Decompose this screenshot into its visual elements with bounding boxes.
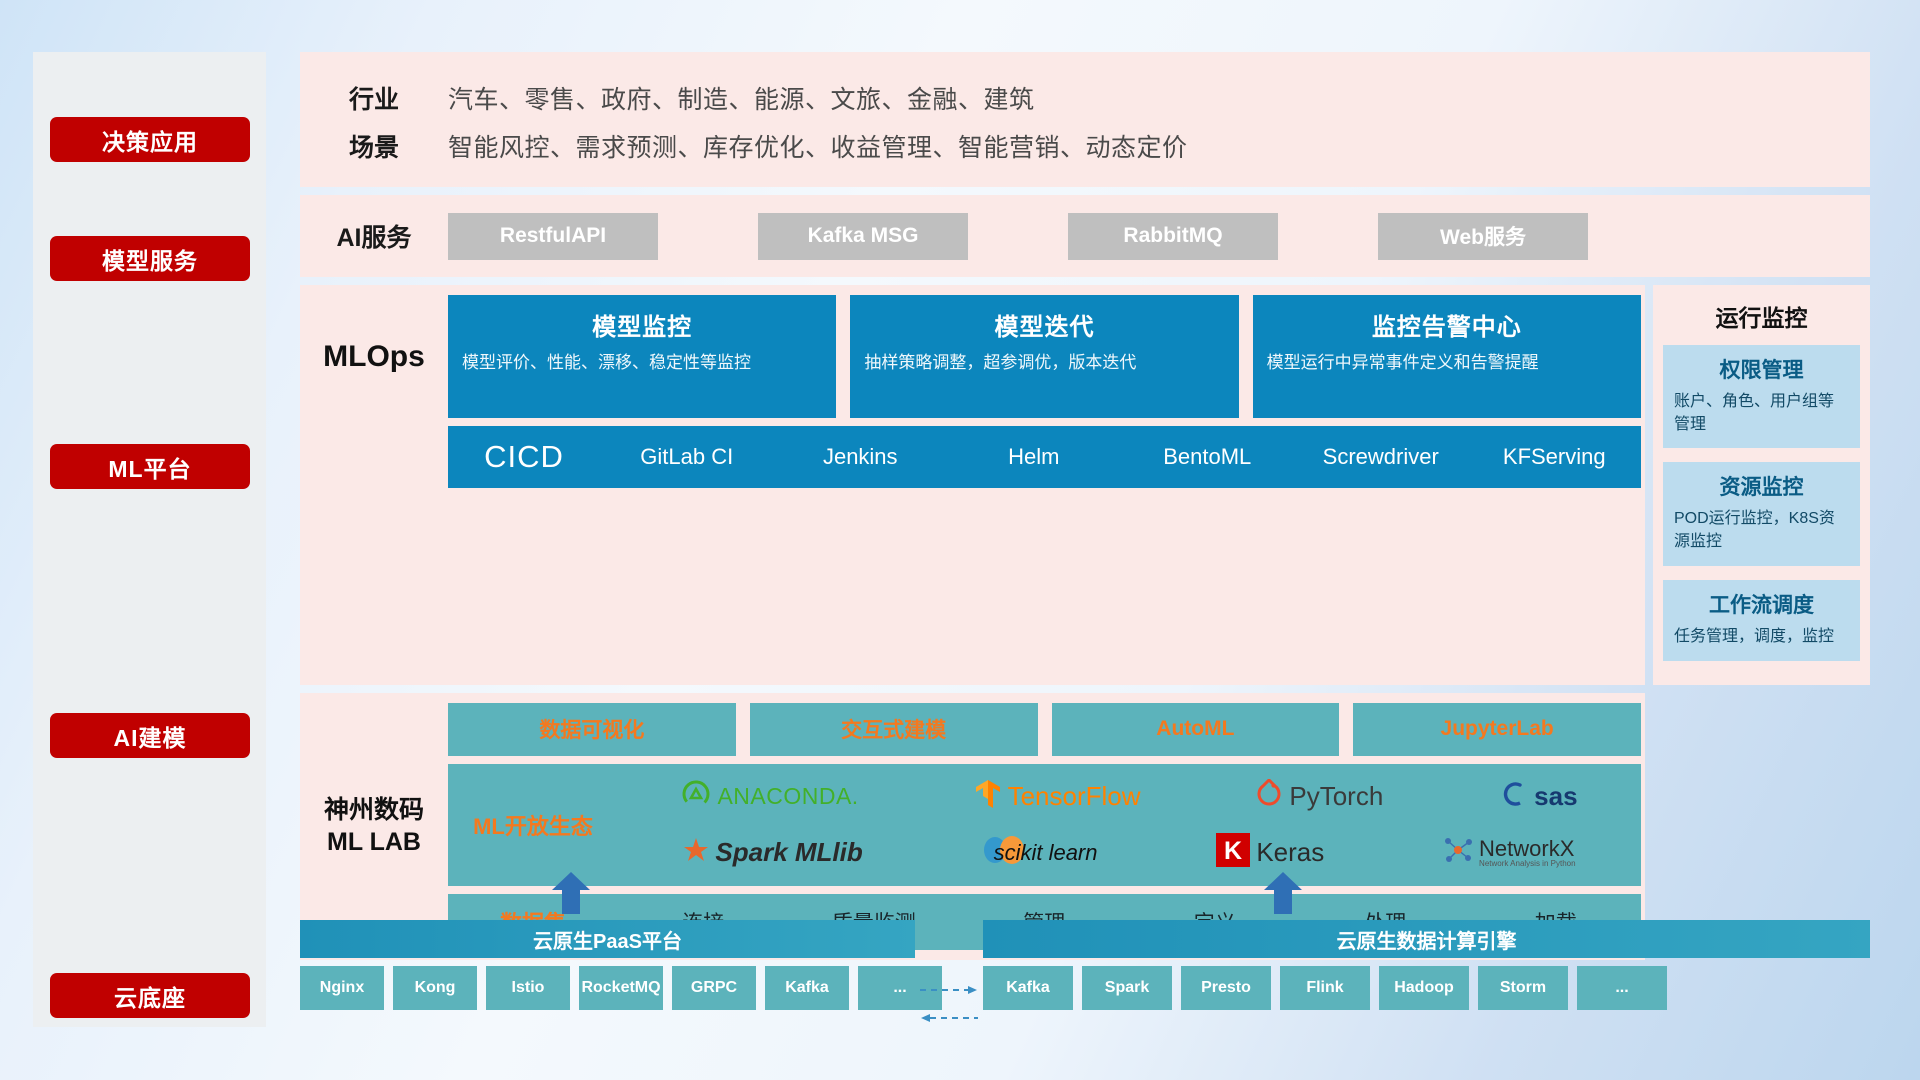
networkx-icon — [1443, 835, 1473, 870]
compute-engine-bar[interactable]: 云原生数据计算引擎 — [983, 920, 1870, 958]
monitor-card-desc: 账户、角色、用户组等管理 — [1674, 391, 1849, 436]
tab-data-visualization[interactable]: 数据可视化 — [448, 703, 736, 756]
dashed-arrow-left-icon — [920, 1012, 978, 1024]
sas-icon — [1498, 779, 1528, 814]
ml-lab-label-line1: 神州数码 — [324, 794, 424, 827]
mlops-card-desc: 模型运行中异常事件定义和告警提醒 — [1267, 351, 1627, 374]
spark-star-icon — [683, 837, 709, 868]
ml-platform-band: MLOps 模型监控 模型评价、性能、漂移、稳定性等监控 模型迭代 抽样策略调整… — [300, 285, 1870, 685]
cicd-title: CICD — [448, 439, 600, 475]
cicd-item-bentoml[interactable]: BentoML — [1121, 446, 1295, 468]
monitor-card-desc: POD运行监控，K8S资源监控 — [1674, 508, 1849, 553]
decision-app-band: 行业 汽车、零售、政府、制造、能源、文旅、金融、建筑 场景 智能风控、需求预测、… — [300, 52, 1870, 187]
mlops-label: MLOps — [300, 295, 448, 418]
scenario-value: 智能风控、需求预测、库存优化、收益管理、智能营销、动态定价 — [448, 128, 1188, 164]
ai-service-rabbitmq[interactable]: RabbitMQ — [1068, 213, 1278, 260]
mlops-card-desc: 模型评价、性能、漂移、稳定性等监控 — [462, 351, 822, 374]
compute-chip-kafka[interactable]: Kafka — [983, 966, 1073, 1010]
tab-automl[interactable]: AutoML — [1052, 703, 1340, 756]
svg-text:K: K — [1224, 837, 1242, 865]
compute-chip-more[interactable]: ... — [1577, 966, 1667, 1010]
ml-lab-tabs: 数据可视化 交互式建模 AutoML JupyterLab — [448, 703, 1641, 756]
monitor-card-desc: 任务管理，调度，监控 — [1674, 626, 1849, 649]
compute-chip-storm[interactable]: Storm — [1478, 966, 1568, 1010]
compute-chip-hadoop[interactable]: Hadoop — [1379, 966, 1469, 1010]
paas-chip-nginx[interactable]: Nginx — [300, 966, 384, 1010]
scenario-label: 场景 — [300, 128, 448, 164]
compute-chip-flink[interactable]: Flink — [1280, 966, 1370, 1010]
compute-chip-presto[interactable]: Presto — [1181, 966, 1271, 1010]
rail-item-ml-platform[interactable]: ML平台 — [50, 444, 250, 489]
mlops-card-model-iteration[interactable]: 模型迭代 抽样策略调整，超参调优，版本迭代 — [850, 295, 1238, 418]
networkx-logo: NetworkX Network Analysis in Python — [1443, 835, 1576, 870]
mlops-card-model-monitor[interactable]: 模型监控 模型评价、性能、漂移、稳定性等监控 — [448, 295, 836, 418]
paas-chip-kong[interactable]: Kong — [393, 966, 477, 1010]
spark-mllib-logo: Spark MLlib — [683, 837, 862, 868]
scikit-learn-logo: scikit learn — [982, 834, 1098, 871]
cicd-item-helm[interactable]: Helm — [947, 446, 1121, 468]
mlops-card-title: 模型迭代 — [864, 307, 1224, 342]
monitor-card-permission[interactable]: 权限管理 账户、角色、用户组等管理 — [1663, 345, 1860, 448]
runtime-monitor-panel: 运行监控 权限管理 账户、角色、用户组等管理 资源监控 POD运行监控，K8S资… — [1653, 285, 1870, 685]
monitor-card-title: 权限管理 — [1674, 354, 1849, 384]
paas-chips: Nginx Kong Istio RocketMQ GRPC Kafka ... — [300, 966, 942, 1010]
sas-label: sas — [1534, 781, 1577, 812]
industry-value: 汽车、零售、政府、制造、能源、文旅、金融、建筑 — [448, 80, 1035, 116]
arrow-up-compute-icon — [1262, 872, 1304, 914]
paas-chip-kafka[interactable]: Kafka — [765, 966, 849, 1010]
keras-icon: K — [1216, 833, 1250, 872]
rail-item-model-service[interactable]: 模型服务 — [50, 236, 250, 281]
ml-ecosystem-title: ML开放生态 — [448, 809, 618, 841]
tensorflow-label: TensorFlow — [1008, 781, 1141, 812]
pytorch-logo: PyTorch — [1255, 779, 1383, 814]
tab-jupyterlab[interactable]: JupyterLab — [1353, 703, 1641, 756]
paas-chip-istio[interactable]: Istio — [486, 966, 570, 1010]
ai-service-kafka-msg[interactable]: Kafka MSG — [758, 213, 968, 260]
tab-interactive-modeling[interactable]: 交互式建模 — [750, 703, 1038, 756]
tensorflow-logo: TensorFlow — [974, 778, 1141, 815]
mlops-card-title: 模型监控 — [462, 307, 822, 342]
monitor-card-resource[interactable]: 资源监控 POD运行监控，K8S资源监控 — [1663, 462, 1860, 565]
tensorflow-icon — [974, 778, 1002, 815]
industry-row: 行业 汽车、零售、政府、制造、能源、文旅、金融、建筑 — [300, 74, 1870, 122]
anaconda-label: ANACONDA. — [717, 783, 858, 810]
pytorch-label: PyTorch — [1289, 781, 1383, 812]
cloud-base-section: 云原生PaaS平台 云原生数据计算引擎 Nginx Kong Istio Roc… — [300, 872, 1870, 1032]
ml-ecosystem-row-1: ANACONDA. TensorFlow — [624, 770, 1635, 824]
ai-service-band: AI服务 RestfulAPI Kafka MSG RabbitMQ Web服务 — [300, 195, 1870, 277]
cicd-item-gitlab-ci[interactable]: GitLab CI — [600, 446, 774, 468]
ai-service-restfulapi[interactable]: RestfulAPI — [448, 213, 658, 260]
main-stack: 行业 汽车、零售、政府、制造、能源、文旅、金融、建筑 场景 智能风控、需求预测、… — [300, 52, 1870, 960]
ai-service-web[interactable]: Web服务 — [1378, 213, 1588, 260]
spark-mllib-label: Spark MLlib — [715, 837, 862, 868]
ai-service-items: RestfulAPI Kafka MSG RabbitMQ Web服务 — [448, 213, 1588, 260]
monitor-card-title: 工作流调度 — [1674, 589, 1849, 619]
ml-ecosystem: ML开放生态 ANACONDA. — [448, 764, 1641, 886]
cicd-item-jenkins[interactable]: Jenkins — [774, 446, 948, 468]
cicd-item-screwdriver[interactable]: Screwdriver — [1294, 446, 1468, 468]
arrow-up-paas-icon — [550, 872, 592, 914]
industry-label: 行业 — [300, 80, 448, 116]
sas-logo: sas — [1498, 779, 1577, 814]
runtime-monitor-title: 运行监控 — [1663, 293, 1860, 345]
scenario-row: 场景 智能风控、需求预测、库存优化、收益管理、智能营销、动态定价 — [300, 122, 1870, 170]
keras-label: Keras — [1256, 837, 1324, 868]
cicd-row: CICD GitLab CI Jenkins Helm BentoML Scre… — [448, 426, 1641, 488]
mlops-card-alert-center[interactable]: 监控告警中心 模型运行中异常事件定义和告警提醒 — [1253, 295, 1641, 418]
anaconda-icon — [681, 779, 711, 814]
cicd-item-kfserving[interactable]: KFServing — [1468, 446, 1642, 468]
compute-chip-spark[interactable]: Spark — [1082, 966, 1172, 1010]
compute-chips: Kafka Spark Presto Flink Hadoop Storm ..… — [983, 966, 1667, 1010]
mlops-card-title: 监控告警中心 — [1267, 307, 1627, 342]
ai-service-label: AI服务 — [300, 218, 448, 254]
networkx-label: NetworkX — [1479, 838, 1576, 860]
monitor-card-workflow[interactable]: 工作流调度 任务管理，调度，监控 — [1663, 580, 1860, 661]
ml-lab-label-line2: ML LAB — [327, 826, 421, 859]
mlops-panel: MLOps 模型监控 模型评价、性能、漂移、稳定性等监控 模型迭代 抽样策略调整… — [300, 285, 1645, 685]
left-rail: 决策应用 模型服务 ML平台 AI建模 云底座 — [33, 52, 266, 1027]
pytorch-icon — [1255, 779, 1283, 814]
scikit-learn-label: scikit learn — [994, 840, 1098, 866]
rail-item-ai-modeling[interactable]: AI建模 — [50, 713, 250, 758]
paas-bar[interactable]: 云原生PaaS平台 — [300, 920, 915, 958]
dashed-arrow-right-icon — [920, 984, 978, 996]
anaconda-logo: ANACONDA. — [681, 779, 858, 814]
paas-chip-rocketmq[interactable]: RocketMQ — [579, 966, 663, 1010]
rail-item-cloud-base[interactable]: 云底座 — [50, 973, 250, 1018]
networkx-sublabel: Network Analysis in Python — [1479, 860, 1576, 868]
keras-logo: K Keras — [1216, 833, 1324, 872]
paas-chip-grpc[interactable]: GRPC — [672, 966, 756, 1010]
rail-item-decision-app[interactable]: 决策应用 — [50, 117, 250, 162]
mlops-card-desc: 抽样策略调整，超参调优，版本迭代 — [864, 351, 1224, 374]
monitor-card-title: 资源监控 — [1674, 471, 1849, 501]
